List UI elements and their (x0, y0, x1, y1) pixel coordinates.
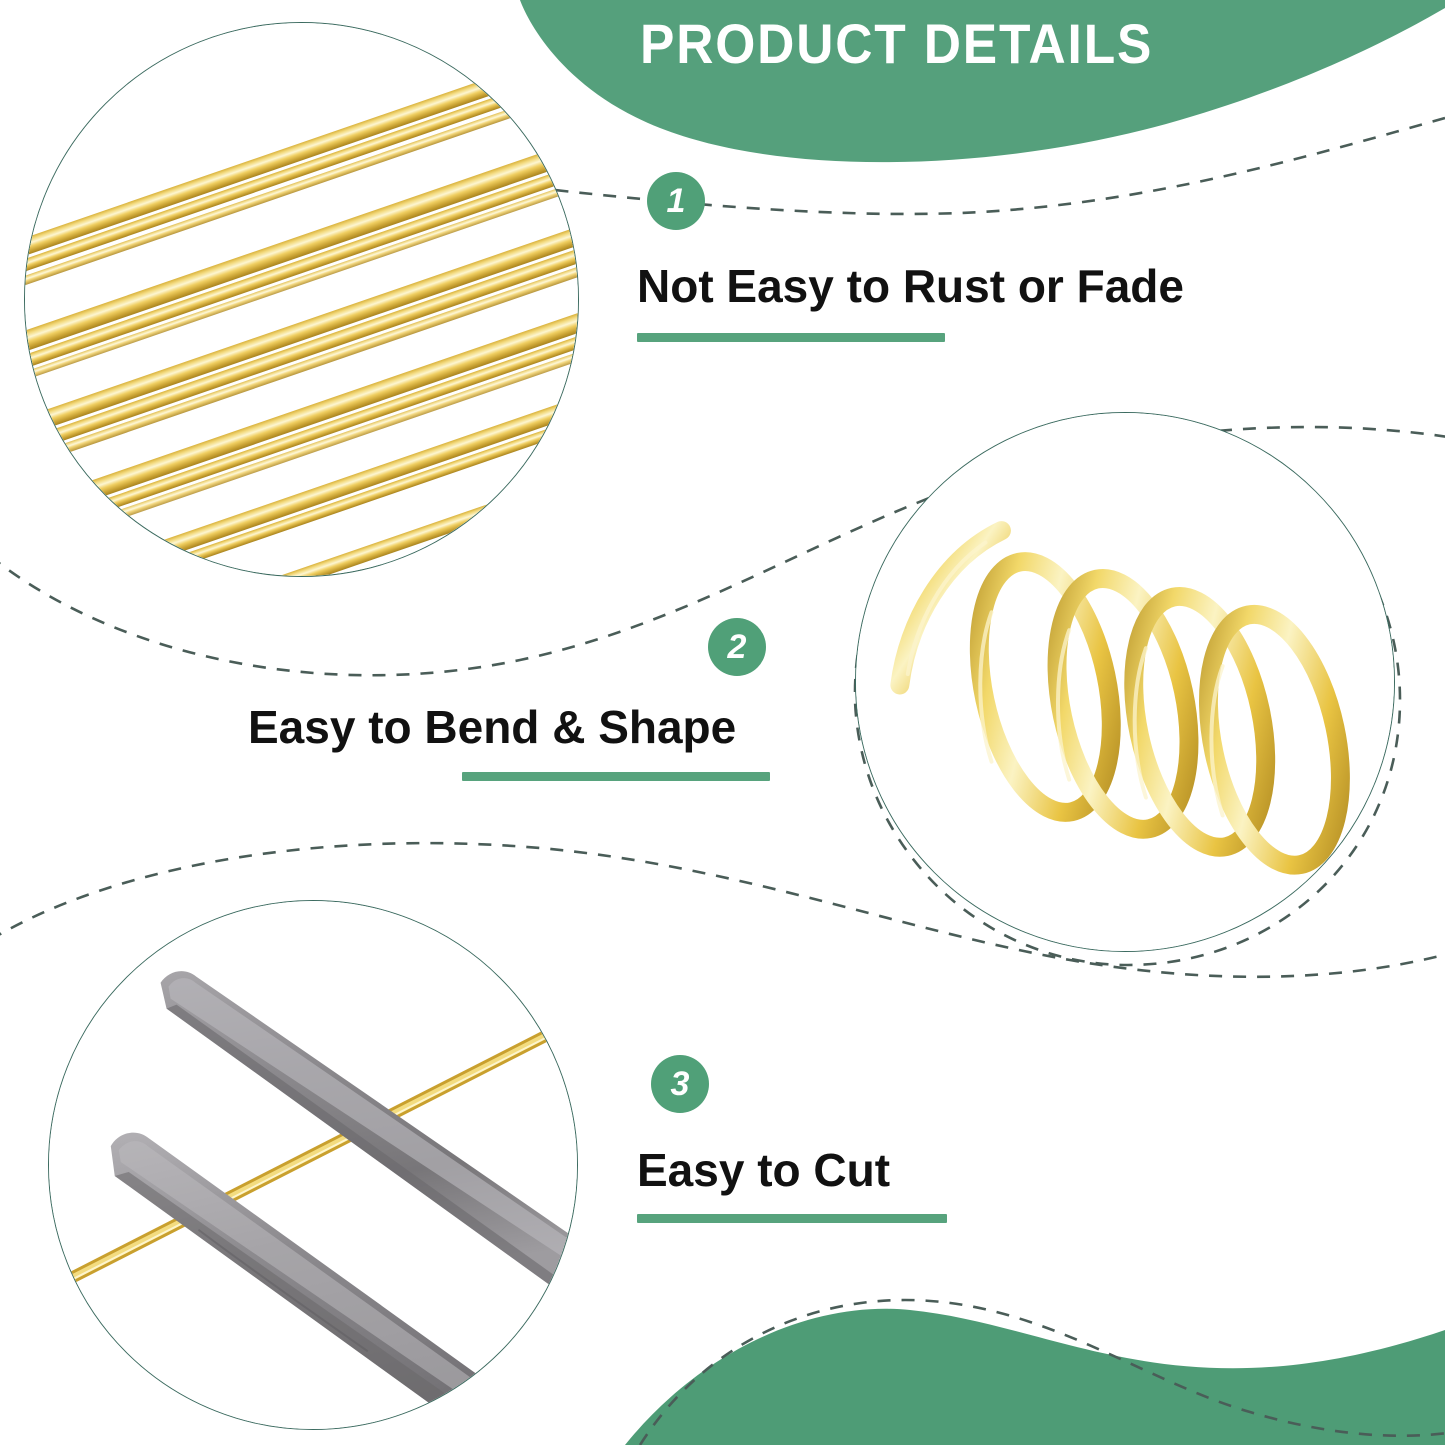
wire-strands-illustration (25, 23, 578, 576)
feature-underline-3 (637, 1214, 947, 1223)
infographic-canvas: 1 Not Easy to Rust or Fade 2 Easy to Ben… (0, 0, 1445, 1445)
feature-badge-2: 2 (708, 618, 766, 676)
feature-badge-3: 3 (651, 1055, 709, 1113)
feature-underline-2 (462, 772, 770, 781)
product-photo-cutting-wire (48, 900, 578, 1430)
wire-coil-illustration (856, 413, 1394, 951)
feature-badge-1: 1 (647, 172, 705, 230)
feature-heading-2: Easy to Bend & Shape (248, 699, 736, 755)
feature-heading-1: Not Easy to Rust or Fade (637, 258, 1184, 314)
footer-green-blob (625, 1309, 1445, 1445)
product-photo-wire-strands (24, 22, 579, 577)
feature-underline-1 (637, 333, 945, 342)
scissors-cutting-illustration (49, 901, 577, 1429)
page-title: PRODUCT DETAILS (640, 8, 1210, 80)
feature-heading-3: Easy to Cut (637, 1142, 890, 1198)
dashed-curve-bottom (640, 1300, 1445, 1445)
product-photo-wire-coil (855, 412, 1395, 952)
